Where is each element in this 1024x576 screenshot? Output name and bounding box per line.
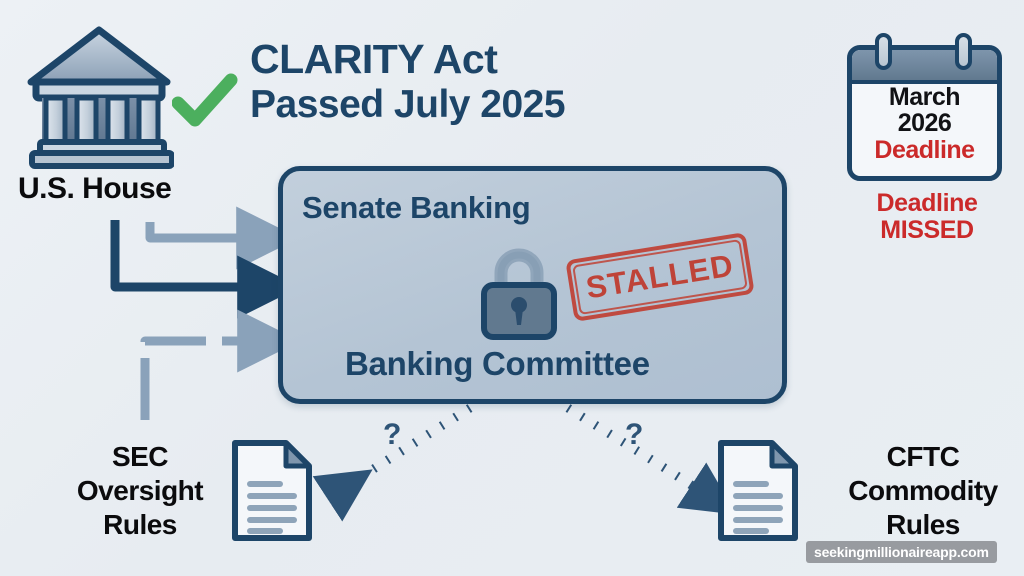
sec-oversight-rules-label: SEC Oversight Rules: [60, 440, 220, 542]
page-title: CLARITY Act Passed July 2025: [250, 36, 670, 128]
question-mark-right: ?: [625, 418, 643, 452]
cftc-label-line3: Rules: [828, 508, 1018, 542]
arrow-house-to-senate-upper: [150, 222, 247, 238]
document-icon-sec: [228, 437, 316, 550]
watermark: seekingmillionaireapp.com: [806, 541, 997, 563]
sec-label-line1: SEC: [60, 440, 220, 474]
deadline-missed-line2: MISSED: [852, 217, 1002, 244]
dotted-arrow-to-sec: [338, 408, 470, 492]
sec-label-line2: Oversight: [60, 474, 220, 508]
sec-label-line3: Rules: [60, 508, 220, 542]
calendar-deadline-label: Deadline: [852, 136, 997, 164]
title-line-act: CLARITY Act: [250, 36, 670, 82]
deadline-missed-status: Deadline MISSED: [852, 190, 1002, 244]
cftc-label-line1: CFTC: [828, 440, 1018, 474]
senate-banking-heading: Senate Banking: [302, 190, 530, 226]
deadline-missed-line1: Deadline: [852, 190, 1002, 217]
capitol-building-icon: [24, 24, 174, 174]
document-icon-cftc: [714, 437, 802, 550]
banking-committee-heading: Banking Committee: [345, 345, 650, 383]
calendar-ring-left: [875, 33, 892, 70]
arrow-house-to-senate-lower: [145, 341, 248, 420]
calendar-year: 2026: [852, 110, 997, 136]
padlock-icon: [476, 243, 562, 346]
calendar-text-block: March 2026 Deadline: [852, 84, 997, 164]
calendar-header-band: [852, 50, 997, 84]
question-mark-left: ?: [383, 418, 401, 452]
title-line-passed: Passed July 2025: [250, 82, 670, 128]
deadline-calendar-icon: March 2026 Deadline: [847, 33, 1002, 181]
green-checkmark-icon: [172, 72, 238, 137]
cftc-commodity-rules-label: CFTC Commodity Rules: [828, 440, 1018, 542]
infographic-canvas: U.S. House CLARITY Act Passed July 2025: [0, 0, 1024, 576]
calendar-month: March: [852, 84, 997, 110]
cftc-label-line2: Commodity: [828, 474, 1018, 508]
calendar-ring-right: [955, 33, 972, 70]
calendar-body: March 2026 Deadline: [847, 45, 1002, 181]
us-house-label: U.S. House: [18, 172, 171, 206]
arrow-house-to-senate-main: [115, 220, 248, 287]
